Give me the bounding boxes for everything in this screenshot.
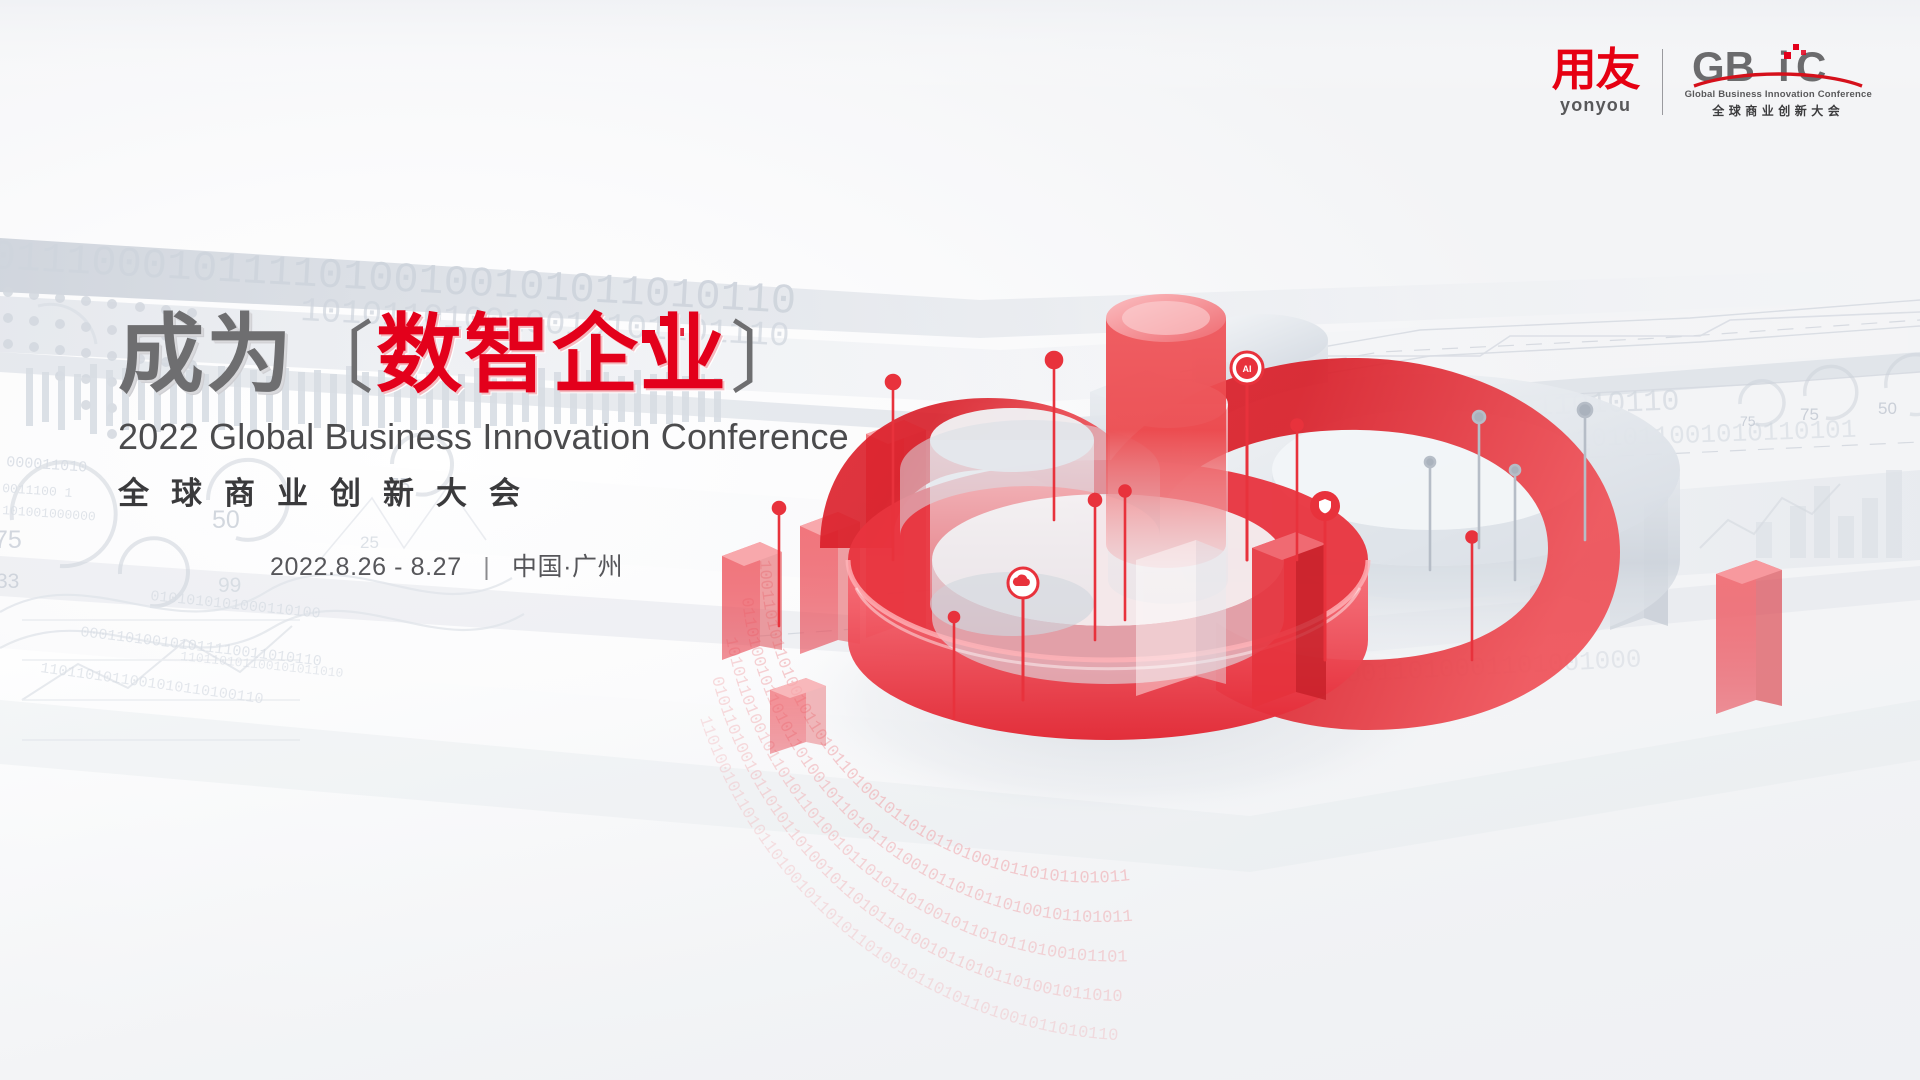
gbic-chinese-tagline: 全球商业创新大会: [1712, 102, 1844, 119]
subtitle-chinese: 全球商业创新大会: [118, 468, 849, 513]
main-headline: 成为 〔 数智企业 〕: [118, 312, 849, 400]
event-date: 2022.8.26 - 8.27: [270, 553, 462, 581]
banner-canvas: 01110001011110100100101011010110 1010110…: [0, 0, 1920, 1080]
svg-text:C: C: [1796, 44, 1826, 90]
red-slab-right: [1252, 532, 1326, 708]
svg-text:i: i: [1778, 44, 1790, 90]
gbic-english-tagline: Global Business Innovation Conference: [1685, 89, 1872, 100]
headline-keyword: 数智企业: [376, 312, 728, 400]
gbic-wordmark-mark: GB i C: [1692, 44, 1864, 88]
headline-bracket-close: 〕: [728, 320, 810, 400]
event-location: 中国·广州: [512, 553, 623, 581]
event-meta-separator: |: [483, 553, 490, 581]
gbic-wordmark-svg: GB i C: [1692, 44, 1864, 90]
yonyou-english-wordmark: yonyou: [1560, 95, 1631, 116]
yonyou-chinese-wordmark: 用友: [1552, 47, 1640, 92]
subtitle-english: 2022 Global Business Innovation Conferen…: [118, 416, 849, 458]
red-bar-far-right: [1716, 560, 1782, 714]
headline-block: 成为 〔 数智企业 〕 2022 Global Business Innovat…: [118, 312, 849, 583]
glass-panels: [1136, 540, 1226, 696]
headline-bracket-open: 〔: [294, 320, 376, 400]
yonyou-logo[interactable]: 用友 yonyou: [1552, 47, 1640, 116]
logo-divider: [1662, 49, 1663, 115]
event-meta: 2022.8.26 - 8.27 | 中国·广州: [270, 547, 849, 583]
logo-lockup[interactable]: 用友 yonyou GB i C Global Business Innovat…: [1552, 44, 1872, 119]
svg-text:AI: AI: [1243, 364, 1252, 374]
gbic-logo[interactable]: GB i C Global Business Innovation Confer…: [1685, 44, 1872, 119]
headline-prefix: 成为: [118, 312, 294, 400]
